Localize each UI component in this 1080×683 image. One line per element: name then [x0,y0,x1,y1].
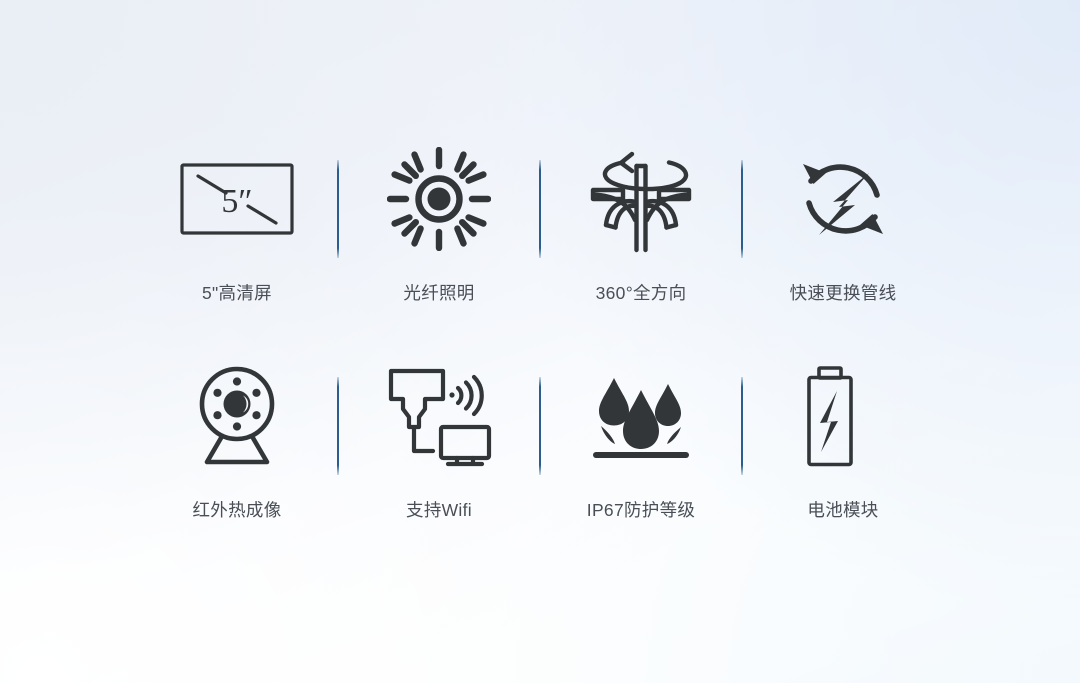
feature-item-waterproof: IP67防护等级 [540,357,742,545]
feature-item-fast-swap: 快速更换管线 [742,140,944,328]
waterproof-ip67-icon [589,357,693,475]
battery-module-icon [805,357,881,475]
fast-swap-cable-icon [791,140,895,258]
rotation-360-icon [585,140,697,258]
infrared-camera-icon [185,357,289,475]
feature-item-wifi: 支持Wifi [338,357,540,545]
feature-label: 5"高清屏 [202,285,272,303]
feature-label: 支持Wifi [406,502,472,520]
feature-grid-page: 5″ 5"高清屏 [0,0,1080,683]
feature-label: 360°全方向 [596,285,687,303]
feature-label: 电池模块 [807,502,878,520]
feature-label: 光纤照明 [403,285,474,303]
feature-item-battery: 电池模块 [742,357,944,545]
feature-label: 红外热成像 [193,502,282,520]
feature-item-screen: 5″ 5"高清屏 [136,140,338,328]
feature-label: IP67防护等级 [587,502,695,520]
feature-label: 快速更换管线 [790,285,897,303]
feature-item-infrared: 红外热成像 [136,357,338,545]
screen-size-text: 5″ [221,183,252,220]
wifi-transmit-icon [385,357,493,475]
screen-5inch-icon: 5″ [178,140,296,258]
feature-item-lighting: 光纤照明 [338,140,540,328]
sun-light-icon [387,140,491,258]
feature-grid: 5″ 5"高清屏 [136,140,944,545]
feature-item-rotation: 360°全方向 [540,140,742,328]
